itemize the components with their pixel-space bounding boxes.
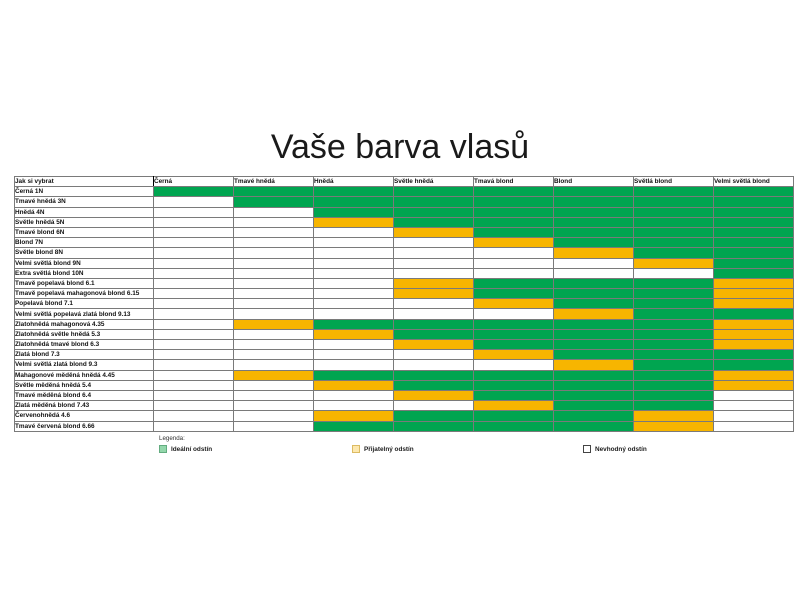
table-row: Zlatá blond 7.3 (15, 350, 794, 360)
matrix-cell (234, 401, 314, 411)
matrix-cell (394, 289, 474, 299)
matrix-cell (394, 299, 474, 309)
matrix-cell (154, 411, 234, 421)
matrix-cell (474, 370, 554, 380)
column-header-6: Světlá blond (634, 177, 714, 187)
matrix-cell (154, 360, 234, 370)
matrix-cell (634, 217, 714, 227)
matrix-cell (554, 360, 634, 370)
matrix-cell (154, 217, 234, 227)
matrix-cell (394, 207, 474, 217)
matrix-cell (554, 289, 634, 299)
matrix-cell (634, 258, 714, 268)
matrix-cell (234, 329, 314, 339)
matrix-cell (234, 238, 314, 248)
column-header-3: Světle hnědá (394, 177, 474, 187)
table-row: Velmi světlá zlatá blond 9.3 (15, 360, 794, 370)
legend-item-acceptable: Přijatelný odstín (352, 445, 414, 453)
matrix-cell (154, 309, 234, 319)
matrix-cell (154, 227, 234, 237)
matrix-cell (154, 248, 234, 258)
table-row: Velmi světlá blond 9N (15, 258, 794, 268)
matrix-cell (154, 197, 234, 207)
matrix-cell (154, 187, 234, 197)
matrix-cell (714, 421, 794, 431)
table-row: Tmavé červená blond 6.66 (15, 421, 794, 431)
matrix-cell (394, 187, 474, 197)
matrix-cell (634, 360, 714, 370)
matrix-cell (314, 299, 394, 309)
matrix-cell (234, 227, 314, 237)
matrix-cell (554, 411, 634, 421)
matrix-cell (474, 238, 554, 248)
matrix-cell (554, 227, 634, 237)
matrix-cell (474, 421, 554, 431)
matrix-cell (634, 207, 714, 217)
matrix-cell (634, 390, 714, 400)
row-label: Extra světlá blond 10N (15, 268, 154, 278)
matrix-cell (554, 217, 634, 227)
matrix-cell (474, 309, 554, 319)
header-row: Jak si vybrat ČernáTmavé hnědáHnědáSvětl… (15, 177, 794, 187)
matrix-cell (394, 238, 474, 248)
table-row: Zlatohnědá světle hnědá 5.3 (15, 329, 794, 339)
matrix-cell (234, 248, 314, 258)
row-label: Velmi světlá blond 9N (15, 258, 154, 268)
matrix-cell (554, 187, 634, 197)
table-row: Blond 7N (15, 238, 794, 248)
table-row: Světle blond 8N (15, 248, 794, 258)
matrix-cell (314, 238, 394, 248)
matrix-cell (714, 390, 794, 400)
matrix-cell (714, 197, 794, 207)
matrix-cell (234, 350, 314, 360)
matrix-cell (314, 370, 394, 380)
table-row: Světle měděná hnědá 5.4 (15, 380, 794, 390)
matrix-cell (714, 278, 794, 288)
matrix-cell (154, 350, 234, 360)
matrix-cell (234, 187, 314, 197)
matrix-cell (474, 329, 554, 339)
matrix-cell (234, 278, 314, 288)
matrix-cell (714, 319, 794, 329)
matrix-cell (474, 411, 554, 421)
table-body: Černá 1NTmavé hnědá 3NHnědá 4NSvětle hně… (15, 187, 794, 432)
matrix-cell (554, 401, 634, 411)
table-row: Zlatohnědá mahagonová 4.35 (15, 319, 794, 329)
matrix-cell (554, 370, 634, 380)
matrix-cell (474, 299, 554, 309)
row-label: Tmavě popelavá mahagonová blond 6.15 (15, 289, 154, 299)
matrix-cell (394, 411, 474, 421)
table-row: Tmavé blond 6N (15, 227, 794, 237)
row-label: Zlatá blond 7.3 (15, 350, 154, 360)
legend-label: Nevhodný odstín (595, 446, 647, 453)
row-label: Černá 1N (15, 187, 154, 197)
matrix-cell (714, 248, 794, 258)
row-label: Světle hnědá 5N (15, 217, 154, 227)
matrix-cell (474, 350, 554, 360)
matrix-cell (234, 309, 314, 319)
matrix-cell (314, 217, 394, 227)
matrix-cell (474, 217, 554, 227)
matrix-cell (394, 370, 474, 380)
legend: Legenda: Ideální odstínPřijatelný odstín… (159, 435, 719, 457)
matrix-cell (554, 268, 634, 278)
row-label: Velmi světlá zlatá blond 9.3 (15, 360, 154, 370)
matrix-cell (234, 360, 314, 370)
matrix-cell (474, 258, 554, 268)
matrix-cell (634, 401, 714, 411)
matrix-cell (714, 238, 794, 248)
matrix-cell (554, 258, 634, 268)
matrix-cell (154, 289, 234, 299)
matrix-cell (314, 197, 394, 207)
matrix-cell (474, 268, 554, 278)
column-header-2: Hnědá (314, 177, 394, 187)
matrix-cell (474, 340, 554, 350)
matrix-cell (634, 380, 714, 390)
matrix-cell (154, 319, 234, 329)
row-label: Mahagonové měděná hnědá 4.45 (15, 370, 154, 380)
matrix-cell (234, 340, 314, 350)
matrix-cell (234, 421, 314, 431)
matrix-cell (634, 309, 714, 319)
row-label: Velmi světlá popelavá zlatá blond 9.13 (15, 309, 154, 319)
matrix-cell (634, 197, 714, 207)
matrix-cell (474, 187, 554, 197)
matrix-cell (474, 319, 554, 329)
legend-title: Legenda: (159, 435, 719, 442)
table-head: Jak si vybrat ČernáTmavé hnědáHnědáSvětl… (15, 177, 794, 187)
matrix-cell (714, 227, 794, 237)
matrix-cell (474, 207, 554, 217)
slide-canvas: Vaše barva vlasů Jak si vybrat ČernáTmav… (0, 0, 800, 600)
matrix-cell (714, 258, 794, 268)
matrix-cell (314, 278, 394, 288)
matrix-cell (234, 197, 314, 207)
matrix-cell (314, 380, 394, 390)
column-header-5: Blond (554, 177, 634, 187)
matrix-cell (634, 289, 714, 299)
matrix-cell (234, 207, 314, 217)
row-label: Světle měděná hnědá 5.4 (15, 380, 154, 390)
table-row: Popelavá blond 7.1 (15, 299, 794, 309)
column-header-7: Velmi světlá blond (714, 177, 794, 187)
table-row: Hnědá 4N (15, 207, 794, 217)
matrix-cell (154, 207, 234, 217)
matrix-cell (634, 238, 714, 248)
matrix-cell (314, 268, 394, 278)
matrix-cell (394, 197, 474, 207)
matrix-cell (314, 248, 394, 258)
matrix-cell (394, 380, 474, 390)
matrix-cell (154, 340, 234, 350)
matrix-cell (314, 309, 394, 319)
row-label: Tmavě popelavá blond 6.1 (15, 278, 154, 288)
matrix-cell (474, 401, 554, 411)
matrix-cell (634, 268, 714, 278)
matrix-cell (394, 350, 474, 360)
matrix-cell (634, 278, 714, 288)
matrix-cell (154, 401, 234, 411)
matrix-cell (554, 329, 634, 339)
matrix-cell (714, 401, 794, 411)
corner-header: Jak si vybrat (15, 177, 154, 187)
row-label: Tmavé blond 6N (15, 227, 154, 237)
table-row: Velmi světlá popelavá zlatá blond 9.13 (15, 309, 794, 319)
matrix-cell (554, 248, 634, 258)
matrix-cell (154, 370, 234, 380)
table-row: Černá 1N (15, 187, 794, 197)
matrix-cell (314, 421, 394, 431)
matrix-cell (314, 360, 394, 370)
matrix-cell (554, 390, 634, 400)
table-row: Červenohnědá 4.6 (15, 411, 794, 421)
table-row: Zlatohnědá tmavé blond 6.3 (15, 340, 794, 350)
row-label: Popelavá blond 7.1 (15, 299, 154, 309)
matrix-cell (554, 421, 634, 431)
table-row: Tmavé hnědá 3N (15, 197, 794, 207)
matrix-cell (394, 227, 474, 237)
matrix-cell (554, 380, 634, 390)
matrix-cell (714, 370, 794, 380)
hair-color-matrix: Jak si vybrat ČernáTmavé hnědáHnědáSvětl… (14, 176, 793, 432)
matrix-cell (714, 350, 794, 360)
matrix-cell (394, 268, 474, 278)
row-label: Zlatohnědá světle hnědá 5.3 (15, 329, 154, 339)
matrix-cell (154, 421, 234, 431)
matrix-cell (394, 278, 474, 288)
matrix-cell (394, 309, 474, 319)
table-row: Zlatá měděná blond 7.43 (15, 401, 794, 411)
legend-items: Ideální odstínPřijatelný odstínNevhodný … (159, 445, 719, 457)
matrix-cell (554, 340, 634, 350)
page-title: Vaše barva vlasů (0, 126, 800, 168)
matrix-cell (314, 258, 394, 268)
legend-swatch-unsuitable-icon (583, 445, 591, 453)
matrix-cell (394, 319, 474, 329)
matrix-cell (314, 207, 394, 217)
matrix-cell (314, 390, 394, 400)
matrix-cell (234, 217, 314, 227)
matrix-cell (554, 207, 634, 217)
matrix-cell (154, 278, 234, 288)
matrix-cell (314, 319, 394, 329)
matrix-cell (634, 248, 714, 258)
matrix-cell (394, 390, 474, 400)
matrix-cell (714, 268, 794, 278)
legend-label: Ideální odstín (171, 446, 212, 453)
matrix-cell (554, 238, 634, 248)
row-label: Tmavé červená blond 6.66 (15, 421, 154, 431)
matrix-cell (714, 309, 794, 319)
matrix-cell (314, 289, 394, 299)
matrix-cell (634, 370, 714, 380)
legend-swatch-acceptable-icon (352, 445, 360, 453)
matrix-cell (554, 309, 634, 319)
matrix-cell (474, 278, 554, 288)
matrix-cell (234, 299, 314, 309)
matrix-cell (634, 227, 714, 237)
matrix-cell (394, 340, 474, 350)
matrix-cell (714, 289, 794, 299)
matrix-cell (394, 248, 474, 258)
table-row: Tmavě popelavá blond 6.1 (15, 278, 794, 288)
matrix-cell (714, 411, 794, 421)
matrix-cell (314, 187, 394, 197)
table-row: Tmavé měděná blond 6.4 (15, 390, 794, 400)
matrix-cell (714, 360, 794, 370)
matrix-cell (634, 421, 714, 431)
row-label: Tmavé měděná blond 6.4 (15, 390, 154, 400)
table-row: Extra světlá blond 10N (15, 268, 794, 278)
matrix-cell (314, 340, 394, 350)
matrix-cell (154, 380, 234, 390)
matrix-cell (554, 278, 634, 288)
matrix-cell (474, 227, 554, 237)
matrix-cell (474, 360, 554, 370)
legend-item-ideal: Ideální odstín (159, 445, 212, 453)
table-row: Tmavě popelavá mahagonová blond 6.15 (15, 289, 794, 299)
matrix-cell (554, 319, 634, 329)
matrix-cell (154, 268, 234, 278)
matrix-cell (314, 401, 394, 411)
matrix-cell (234, 390, 314, 400)
matrix-cell (234, 370, 314, 380)
matrix-cell (394, 421, 474, 431)
matrix-cell (634, 350, 714, 360)
matrix-cell (154, 238, 234, 248)
matrix-cell (634, 411, 714, 421)
matrix-cell (234, 289, 314, 299)
matrix-cell (554, 197, 634, 207)
matrix-cell (314, 350, 394, 360)
matrix-cell (394, 258, 474, 268)
matrix-cell (714, 340, 794, 350)
matrix-cell (234, 411, 314, 421)
matrix-cell (394, 217, 474, 227)
matrix-cell (554, 350, 634, 360)
legend-item-unsuitable: Nevhodný odstín (583, 445, 647, 453)
matrix-cell (154, 258, 234, 268)
table-row: Mahagonové měděná hnědá 4.45 (15, 370, 794, 380)
matrix-cell (154, 390, 234, 400)
matrix-cell (234, 380, 314, 390)
matrix-cell (474, 289, 554, 299)
row-label: Blond 7N (15, 238, 154, 248)
matrix-cell (554, 299, 634, 309)
column-header-1: Tmavé hnědá (234, 177, 314, 187)
row-label: Tmavé hnědá 3N (15, 197, 154, 207)
matrix-cell (714, 329, 794, 339)
matrix-cell (714, 299, 794, 309)
matrix-cell (394, 329, 474, 339)
matrix-cell (394, 360, 474, 370)
matrix-cell (154, 329, 234, 339)
matrix-cell (474, 380, 554, 390)
row-label: Hnědá 4N (15, 207, 154, 217)
row-label: Červenohnědá 4.6 (15, 411, 154, 421)
matrix-cell (714, 187, 794, 197)
matrix-cell (714, 207, 794, 217)
matrix-cell (154, 299, 234, 309)
table-row: Světle hnědá 5N (15, 217, 794, 227)
hair-color-table: Jak si vybrat ČernáTmavé hnědáHnědáSvětl… (14, 176, 794, 432)
legend-label: Přijatelný odstín (364, 446, 414, 453)
row-label: Světle blond 8N (15, 248, 154, 258)
matrix-cell (634, 299, 714, 309)
row-label: Zlatohnědá mahagonová 4.35 (15, 319, 154, 329)
matrix-cell (314, 227, 394, 237)
row-label: Zlatohnědá tmavé blond 6.3 (15, 340, 154, 350)
matrix-cell (634, 319, 714, 329)
column-header-0: Černá (154, 177, 234, 187)
matrix-cell (474, 248, 554, 258)
matrix-cell (474, 197, 554, 207)
matrix-cell (634, 329, 714, 339)
row-label: Zlatá měděná blond 7.43 (15, 401, 154, 411)
matrix-cell (234, 319, 314, 329)
matrix-cell (314, 411, 394, 421)
matrix-cell (714, 380, 794, 390)
matrix-cell (234, 268, 314, 278)
matrix-cell (234, 258, 314, 268)
matrix-cell (314, 329, 394, 339)
column-header-4: Tmavá blond (474, 177, 554, 187)
matrix-cell (634, 187, 714, 197)
matrix-cell (634, 340, 714, 350)
matrix-cell (474, 390, 554, 400)
legend-swatch-ideal-icon (159, 445, 167, 453)
matrix-cell (714, 217, 794, 227)
matrix-cell (394, 401, 474, 411)
